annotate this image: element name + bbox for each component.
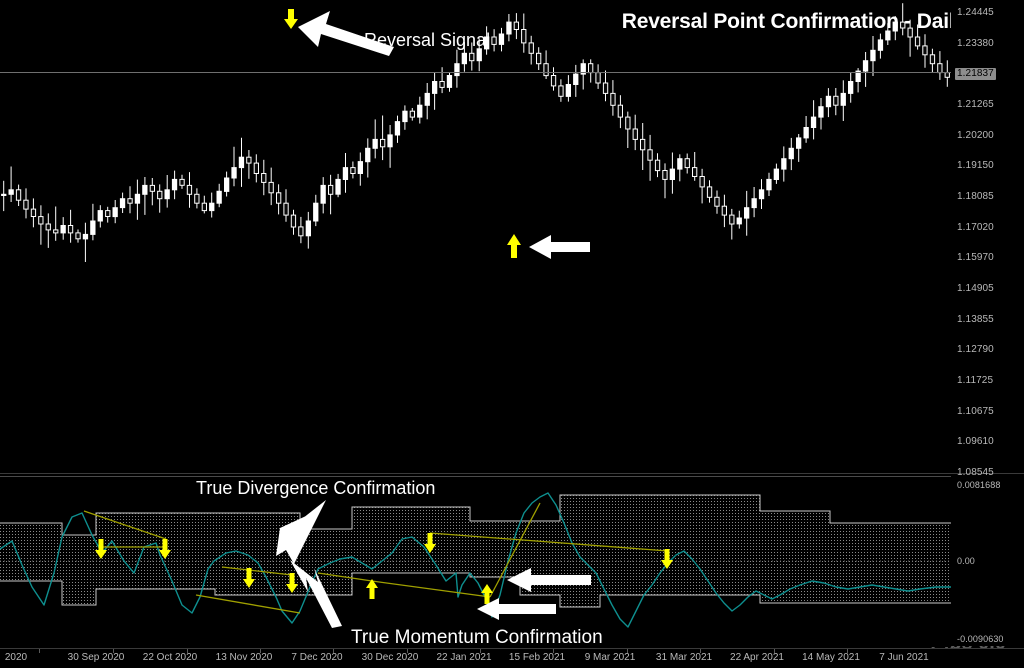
date-tick-mark	[480, 649, 481, 653]
date-tick-mark	[553, 649, 554, 653]
current-price-badge: 1.21837	[955, 68, 996, 80]
price-tick-label: 1.12790	[957, 345, 994, 355]
date-tick-mark	[774, 649, 775, 653]
chart-window: Reversal Point Confirmation - Daily Pips…	[0, 0, 1024, 667]
candlestick-series	[0, 0, 951, 472]
price-tick-label: 1.11725	[957, 376, 993, 386]
annotation-label-momentum: True Momentum Confirmation	[351, 627, 603, 649]
price-tick-label: 1.18085	[957, 192, 994, 202]
indicator-tick-label: -0.0090630	[957, 634, 1004, 644]
date-tick-label: 22 Apr 2021	[730, 652, 784, 664]
pane-separator[interactable]	[0, 473, 1024, 474]
date-tick-label: 22 Oct 2020	[143, 652, 197, 664]
annotation-arrow-momentum-lower	[477, 597, 557, 621]
date-tick-label: 7 Dec 2020	[291, 652, 342, 664]
date-tick-mark	[407, 649, 408, 653]
price-tick-label: 1.17020	[957, 223, 994, 233]
annotation-arrow-momentum-upper	[507, 567, 592, 593]
buy-signal-icon	[504, 233, 524, 259]
date-tick-label: 2020	[5, 652, 27, 664]
date-tick-mark	[113, 649, 114, 653]
price-tick-label: 1.19150	[957, 161, 994, 171]
indicator-tick-label: 0.00	[957, 556, 975, 566]
date-tick-label: 30 Sep 2020	[68, 652, 125, 664]
date-tick-label: 30 Dec 2020	[362, 652, 419, 664]
date-tick-mark	[260, 649, 261, 653]
date-tick-mark	[187, 649, 188, 653]
date-tick-label: 22 Jan 2021	[436, 652, 491, 664]
date-tick-mark	[39, 649, 40, 653]
date-tick-label: 9 Mar 2021	[585, 652, 636, 664]
price-tick-label: 1.10675	[957, 407, 994, 417]
date-tick-mark	[333, 649, 334, 653]
price-tick-label: 1.23380	[957, 39, 994, 49]
date-tick-label: 14 May 2021	[802, 652, 860, 664]
price-chart-pane[interactable]	[0, 0, 952, 472]
annotation-label-reversal: Reversal Signal	[364, 30, 490, 51]
price-tick-label: 1.13855	[957, 315, 994, 325]
price-tick-label: 1.15970	[957, 253, 994, 263]
price-tick-label: 1.14905	[957, 284, 994, 294]
annotation-arrow-divergence-lower	[284, 548, 344, 628]
date-tick-mark	[847, 649, 848, 653]
price-tick-label: 1.21265	[957, 100, 994, 110]
indicator-pane[interactable]	[0, 476, 952, 647]
indicator-axis[interactable]: 0.00816880.00-0.0090630	[951, 476, 1024, 646]
date-axis[interactable]: 202030 Sep 202022 Oct 202013 Nov 20207 D…	[0, 648, 1024, 668]
date-tick-label: 15 Feb 2021	[509, 652, 565, 664]
annotation-label-divergence: True Divergence Confirmation	[196, 478, 435, 499]
indicator-tick-label: 0.0081688	[957, 480, 1000, 490]
chart-title: Reversal Point Confirmation - Daily	[622, 10, 966, 34]
price-tick-label: 1.20200	[957, 131, 994, 141]
date-tick-label: 13 Nov 2020	[216, 652, 273, 664]
date-tick-label: 7 Jun 2021	[879, 652, 929, 664]
annotation-arrow-buy	[529, 234, 591, 260]
indicator-series	[0, 477, 951, 647]
price-axis[interactable]: 1.244451.233801.223151.212651.202001.191…	[951, 0, 1024, 473]
price-tick-label: 1.09610	[957, 437, 994, 447]
date-tick-label: 31 Mar 2021	[656, 652, 712, 664]
date-tick-mark	[700, 649, 701, 653]
date-tick-mark	[627, 649, 628, 653]
current-price-line	[0, 72, 951, 73]
price-tick-label: 1.24445	[957, 8, 994, 18]
